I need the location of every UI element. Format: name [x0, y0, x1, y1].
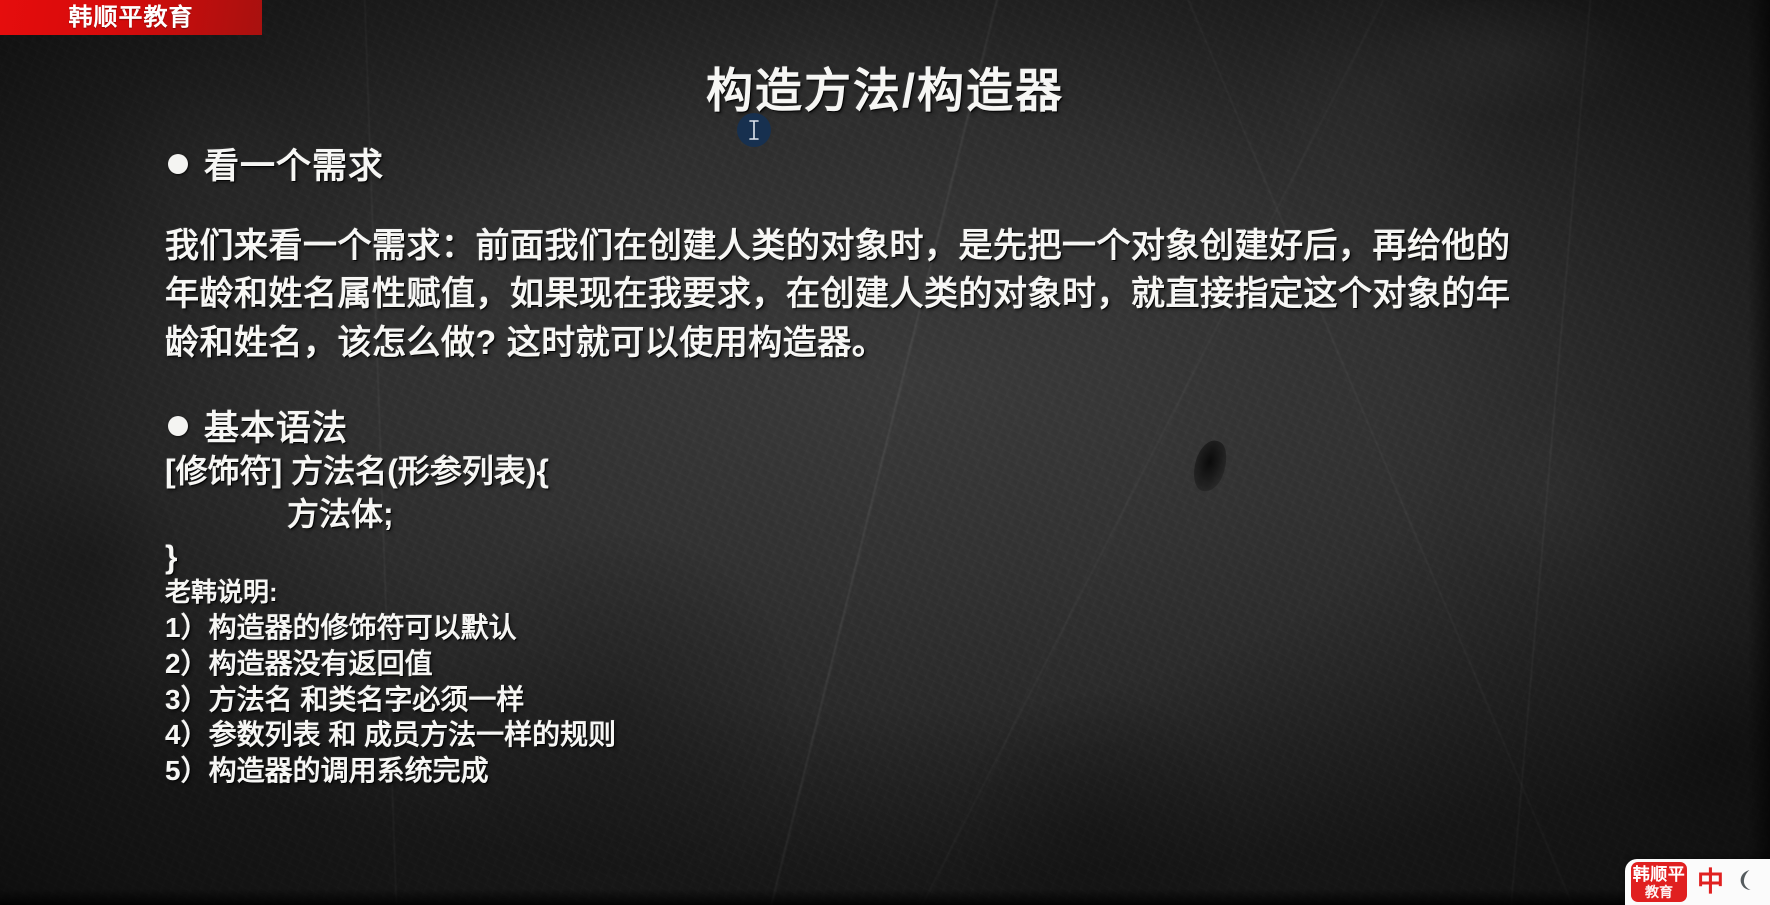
- list-item: 4）参数列表 和 成员方法一样的规则: [165, 717, 616, 753]
- requirement-paragraph: 我们来看一个需求：前面我们在创建人类的对象时，是先把一个对象创建好后，再给他的年…: [165, 222, 1517, 367]
- list-item: 1）构造器的修饰符可以默认: [165, 610, 616, 646]
- syntax-line-signature: [修饰符] 方法名(形参列表){: [165, 450, 549, 493]
- brand-banner-label: 韩顺平教育: [69, 6, 194, 30]
- section-heading-requirement-label: 看一个需求: [204, 138, 384, 189]
- ime-brand-badge-line1: 韩顺平: [1633, 866, 1686, 883]
- ime-brand-badge[interactable]: 韩顺平 教育: [1631, 862, 1687, 902]
- section-heading-syntax: 基本语法: [168, 400, 348, 451]
- brand-banner: 韩顺平教育: [0, 0, 262, 35]
- ime-mode-indicator[interactable]: 中: [1697, 869, 1724, 896]
- slide-content: 构造方法/构造器 看一个需求 我们来看一个需求：前面我们在创建人类的对象时，是先…: [0, 0, 1770, 905]
- moon-icon[interactable]: [1734, 869, 1754, 896]
- list-item: 2）构造器没有返回值: [165, 646, 616, 682]
- syntax-line-body: 方法体;: [165, 493, 549, 536]
- bullet-dot-icon: [168, 154, 188, 174]
- bullet-dot-icon: [168, 416, 188, 436]
- syntax-code-block: [修饰符] 方法名(形参列表){ 方法体; }: [165, 450, 549, 580]
- list-item: 3）方法名 和类名字必须一样: [165, 682, 616, 718]
- list-item: 5）构造器的调用系统完成: [165, 753, 616, 789]
- text-cursor-icon: [737, 113, 771, 147]
- slide-title: 构造方法/构造器: [0, 52, 1770, 121]
- section-heading-syntax-label: 基本语法: [204, 400, 348, 451]
- note-label: 老韩说明:: [165, 572, 278, 609]
- lecture-slide: 韩顺平教育 构造方法/构造器 看一个需求 我们来看一个需求：前面我们在创建人类的…: [0, 0, 1770, 905]
- note-list: 1）构造器的修饰符可以默认 2）构造器没有返回值 3）方法名 和类名字必须一样 …: [165, 610, 616, 789]
- ime-status-panel[interactable]: 韩顺平 教育 中: [1625, 859, 1770, 905]
- ime-brand-badge-line2: 教育: [1645, 885, 1673, 899]
- section-heading-requirement: 看一个需求: [168, 138, 384, 189]
